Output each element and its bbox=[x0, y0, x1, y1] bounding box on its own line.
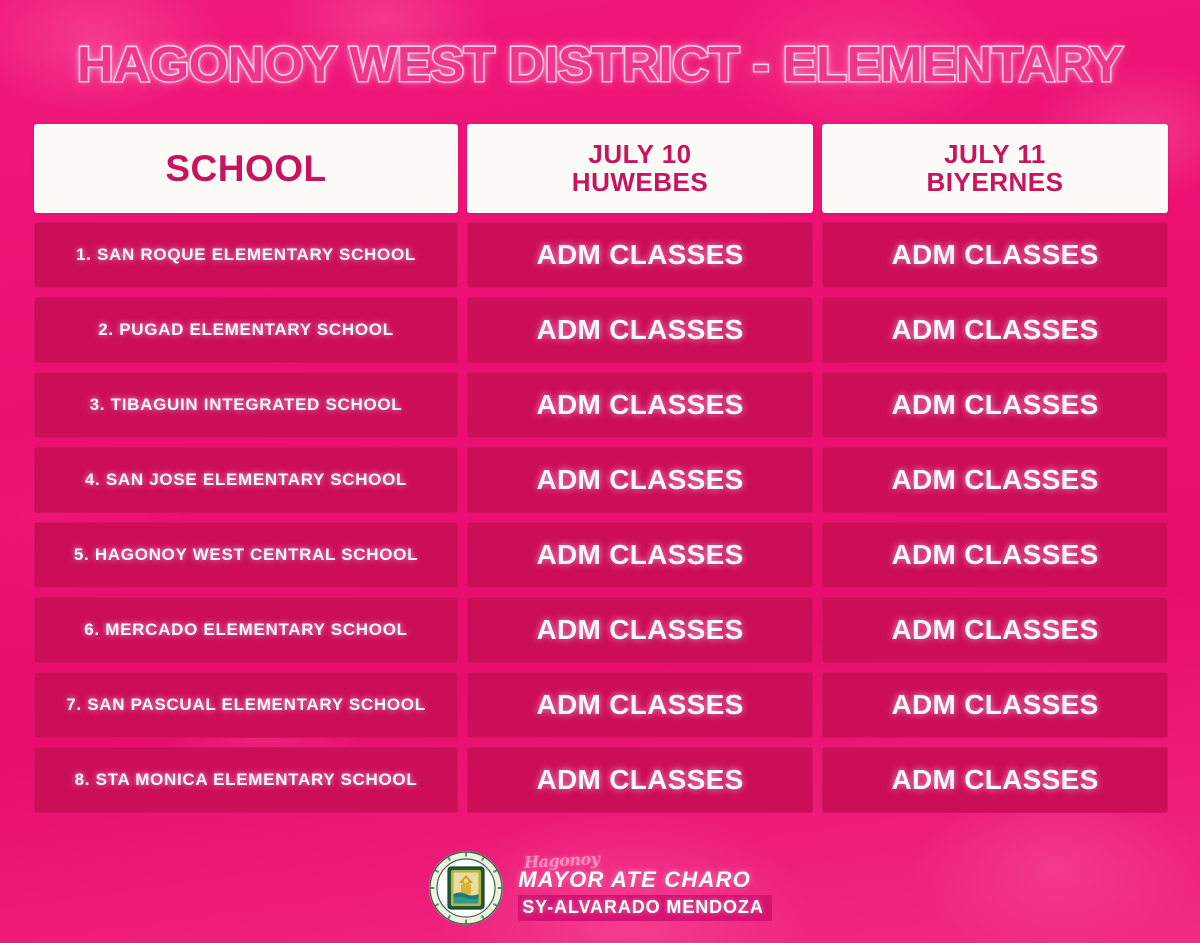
table-row: 2. PUGAD ELEMENTARY SCHOOL ADM CLASSES A… bbox=[34, 297, 1170, 363]
school-name-label: 6. MERCADO ELEMENTARY SCHOOL bbox=[70, 613, 421, 646]
status-label: ADM CLASSES bbox=[536, 764, 743, 796]
status-cell-july-10: ADM CLASSES bbox=[467, 747, 813, 813]
school-cell: 7. SAN PASCUAL ELEMENTARY SCHOOL bbox=[34, 672, 458, 738]
status-label: ADM CLASSES bbox=[536, 689, 743, 721]
status-label: ADM CLASSES bbox=[891, 239, 1098, 271]
status-cell-july-11: ADM CLASSES bbox=[822, 747, 1168, 813]
table-header-row: SCHOOL JULY 10HUWEBES JULY 11BIYERNES bbox=[34, 124, 1170, 213]
school-cell: 1. SAN ROQUE ELEMENTARY SCHOOL bbox=[34, 222, 458, 288]
status-label: ADM CLASSES bbox=[536, 464, 743, 496]
mayor-credit: Hagonoy MAYOR ATE CHARO SY-ALVARADO MEND… bbox=[518, 855, 771, 921]
script-flourish-label: Hagonoy bbox=[524, 849, 600, 872]
mayor-name-label: MAYOR ATE CHARO bbox=[518, 867, 751, 893]
status-label: ADM CLASSES bbox=[891, 314, 1098, 346]
status-cell-july-11: ADM CLASSES bbox=[822, 297, 1168, 363]
school-cell: 5. HAGONOY WEST CENTRAL SCHOOL bbox=[34, 522, 458, 588]
status-label: ADM CLASSES bbox=[536, 389, 743, 421]
status-label: ADM CLASSES bbox=[536, 239, 743, 271]
school-name-label: 4. SAN JOSE ELEMENTARY SCHOOL bbox=[71, 463, 421, 496]
status-label: ADM CLASSES bbox=[891, 689, 1098, 721]
status-cell-july-11: ADM CLASSES bbox=[822, 222, 1168, 288]
school-name-label: 2. PUGAD ELEMENTARY SCHOOL bbox=[84, 313, 408, 346]
school-cell: 4. SAN JOSE ELEMENTARY SCHOOL bbox=[34, 447, 458, 513]
status-cell-july-10: ADM CLASSES bbox=[467, 297, 813, 363]
header-july-10-date: JULY 10 bbox=[588, 139, 691, 169]
status-label: ADM CLASSES bbox=[891, 764, 1098, 796]
school-name-label: 1. SAN ROQUE ELEMENTARY SCHOOL bbox=[62, 238, 430, 271]
schedule-table: SCHOOL JULY 10HUWEBES JULY 11BIYERNES 1.… bbox=[34, 124, 1170, 822]
status-cell-july-11: ADM CLASSES bbox=[822, 372, 1168, 438]
table-row: 6. MERCADO ELEMENTARY SCHOOL ADM CLASSES… bbox=[34, 597, 1170, 663]
header-july-11-label: JULY 11BIYERNES bbox=[927, 141, 1064, 196]
status-label: ADM CLASSES bbox=[536, 539, 743, 571]
status-cell-july-10: ADM CLASSES bbox=[467, 522, 813, 588]
school-name-label: 3. TIBAGUIN INTEGRATED SCHOOL bbox=[76, 388, 417, 421]
status-label: ADM CLASSES bbox=[891, 389, 1098, 421]
school-cell: 8. STA MONICA ELEMENTARY SCHOOL bbox=[34, 747, 458, 813]
status-label: ADM CLASSES bbox=[891, 539, 1098, 571]
status-cell-july-10: ADM CLASSES bbox=[467, 597, 813, 663]
poster-canvas: HAGONOY WEST DISTRICT - ELEMENTARY SCHOO… bbox=[0, 0, 1200, 943]
header-cell-school: SCHOOL bbox=[34, 124, 458, 213]
school-name-label: 5. HAGONOY WEST CENTRAL SCHOOL bbox=[60, 538, 432, 571]
table-row: 4. SAN JOSE ELEMENTARY SCHOOL ADM CLASSE… bbox=[34, 447, 1170, 513]
status-cell-july-11: ADM CLASSES bbox=[822, 597, 1168, 663]
title-bar: HAGONOY WEST DISTRICT - ELEMENTARY bbox=[0, 34, 1200, 96]
header-july-10-label: JULY 10HUWEBES bbox=[572, 141, 708, 196]
status-cell-july-10: ADM CLASSES bbox=[467, 372, 813, 438]
status-label: ADM CLASSES bbox=[891, 614, 1098, 646]
municipal-seal-icon bbox=[428, 850, 504, 926]
school-cell: 3. TIBAGUIN INTEGRATED SCHOOL bbox=[34, 372, 458, 438]
footer: Hagonoy MAYOR ATE CHARO SY-ALVARADO MEND… bbox=[0, 838, 1200, 938]
table-row: 8. STA MONICA ELEMENTARY SCHOOL ADM CLAS… bbox=[34, 747, 1170, 813]
header-july-11-date: JULY 11 bbox=[944, 139, 1046, 169]
page-title: HAGONOY WEST DISTRICT - ELEMENTARY bbox=[77, 37, 1123, 93]
header-school-label: SCHOOL bbox=[165, 149, 326, 188]
header-cell-july-10: JULY 10HUWEBES bbox=[467, 124, 813, 213]
school-name-label: 8. STA MONICA ELEMENTARY SCHOOL bbox=[61, 763, 432, 796]
status-cell-july-10: ADM CLASSES bbox=[467, 672, 813, 738]
mayor-surname-label: SY-ALVARADO MENDOZA bbox=[518, 895, 771, 921]
status-cell-july-10: ADM CLASSES bbox=[467, 222, 813, 288]
header-july-10-weekday: HUWEBES bbox=[572, 167, 708, 197]
header-cell-july-11: JULY 11BIYERNES bbox=[822, 124, 1168, 213]
school-name-label: 7. SAN PASCUAL ELEMENTARY SCHOOL bbox=[52, 688, 440, 721]
table-row: 5. HAGONOY WEST CENTRAL SCHOOL ADM CLASS… bbox=[34, 522, 1170, 588]
school-cell: 2. PUGAD ELEMENTARY SCHOOL bbox=[34, 297, 458, 363]
header-july-11-weekday: BIYERNES bbox=[927, 167, 1064, 197]
status-cell-july-10: ADM CLASSES bbox=[467, 447, 813, 513]
status-cell-july-11: ADM CLASSES bbox=[822, 447, 1168, 513]
table-row: 3. TIBAGUIN INTEGRATED SCHOOL ADM CLASSE… bbox=[34, 372, 1170, 438]
status-label: ADM CLASSES bbox=[536, 614, 743, 646]
status-label: ADM CLASSES bbox=[536, 314, 743, 346]
table-row: 1. SAN ROQUE ELEMENTARY SCHOOL ADM CLASS… bbox=[34, 222, 1170, 288]
school-cell: 6. MERCADO ELEMENTARY SCHOOL bbox=[34, 597, 458, 663]
table-row: 7. SAN PASCUAL ELEMENTARY SCHOOL ADM CLA… bbox=[34, 672, 1170, 738]
status-label: ADM CLASSES bbox=[891, 464, 1098, 496]
status-cell-july-11: ADM CLASSES bbox=[822, 522, 1168, 588]
status-cell-july-11: ADM CLASSES bbox=[822, 672, 1168, 738]
